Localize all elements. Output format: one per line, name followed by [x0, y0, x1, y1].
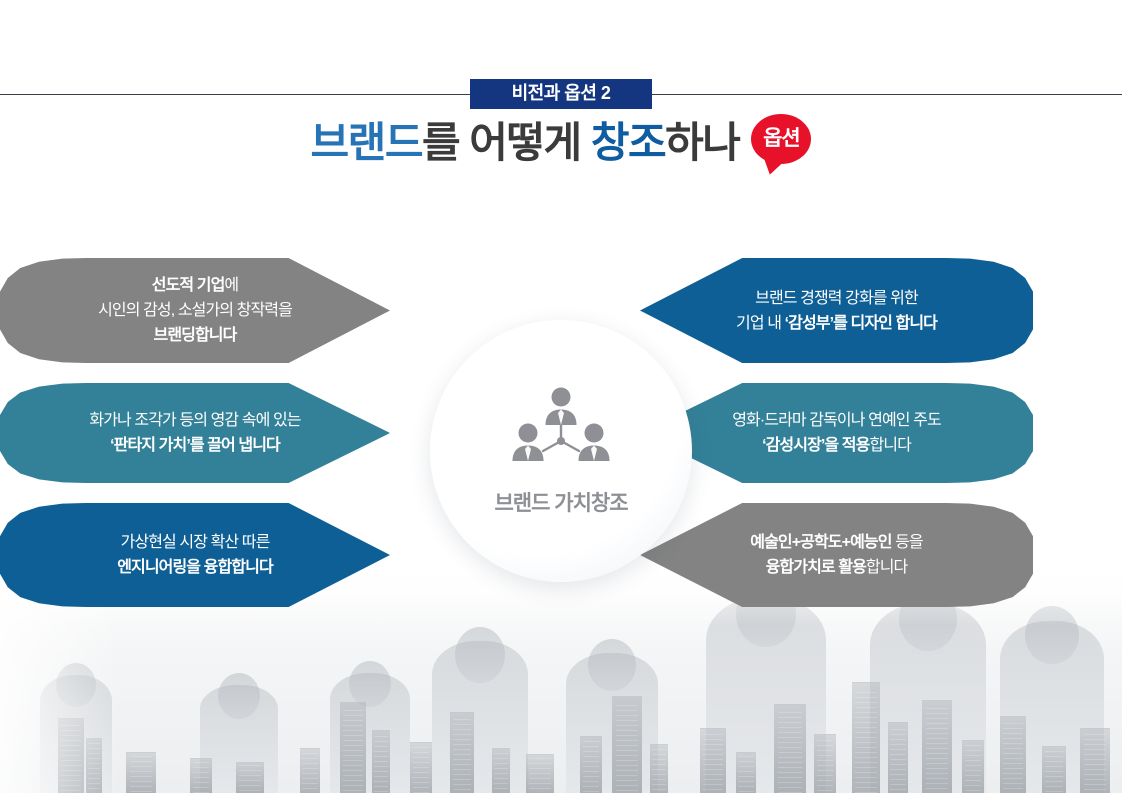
callout-middle-right-text: 영화·드라마 감독이나 연예인 주도 ‘감성시장’을 적용합니다 [732, 408, 941, 458]
callout-bottom-right-text: 예술인+공학도+예능인 등을 융합가치로 활용합니다 [750, 530, 922, 580]
callout-line: 기업 내 ‘감성부’를 디자인 합니다 [736, 311, 937, 336]
callout-top-right-line1: 브랜드 경쟁력 강화를 위한 [736, 286, 937, 311]
callout-line: 브랜딩합니다 [98, 323, 292, 348]
title-part-brand: 브랜드 [311, 119, 422, 166]
callout-middle-left[interactable]: 화가나 조각가 등의 영감 속에 있는 ‘판타지 가치’를 끌어 냅니다 [0, 383, 390, 483]
callout-line: ‘감성시장’을 적용합니다 [732, 433, 941, 458]
callout-bottom-left-line2-bold: 엔지니어링을 융합합니다 [117, 559, 273, 576]
callout-top-left-line3-bold: 브랜딩합니다 [154, 327, 237, 344]
option-speech-bubble-badge: 옵션 [751, 114, 811, 164]
center-circle-content: 브랜드 가치창조 [430, 320, 692, 582]
callout-middle-right-line1: 영화·드라마 감독이나 연예인 주도 [732, 408, 941, 433]
callout-bottom-right-line1-rest: 등을 [892, 534, 923, 551]
title-part-create: 창조 [591, 119, 665, 166]
skyline-building [1000, 716, 1026, 793]
callout-middle-left-text: 화가나 조각가 등의 영감 속에 있는 ‘판타지 가치’를 끌어 냅니다 [89, 408, 300, 458]
callout-top-left[interactable]: 선도적 기업에 시인의 감성, 소설가의 창작력을 브랜딩합니다 [0, 258, 390, 363]
skyline-building [526, 754, 554, 793]
callout-bottom-left[interactable]: 가상현실 시장 확산 따른 엔지니어링을 융합합니다 [0, 503, 390, 607]
callout-line: 엔지니어링을 융합합니다 [117, 555, 273, 580]
skyline-building [372, 730, 390, 793]
callout-top-left-line1-rest: 에 [224, 277, 238, 294]
callout-top-left-text: 선도적 기업에 시인의 감성, 소설가의 창작력을 브랜딩합니다 [98, 273, 292, 348]
callout-middle-right[interactable]: 영화·드라마 감독이나 연예인 주도 ‘감성시장’을 적용합니다 [640, 383, 1033, 483]
skyline-building [962, 740, 984, 793]
page-title: 브랜드를 어떻게 창조하나옵션 [0, 116, 1122, 170]
skyline-building [922, 700, 952, 793]
center-circle-label: 브랜드 가치창조 [494, 487, 627, 517]
callout-top-right-line2-bold: ‘감성부’를 디자인 합니다 [785, 315, 937, 332]
org-chart-people-icon [501, 385, 621, 481]
skyline-building [1042, 746, 1066, 793]
callout-line: 예술인+공학도+예능인 등을 [750, 530, 922, 555]
skyline-building [814, 734, 836, 793]
title-part-particle: 를 [422, 119, 469, 166]
skyline-building [612, 696, 642, 793]
callout-line: ‘판타지 가치’를 끌어 냅니다 [89, 433, 300, 458]
callout-line: 융합가치로 활용합니다 [750, 555, 922, 580]
skyline-building [340, 702, 366, 793]
callout-middle-right-line2-rest: 합니다 [869, 437, 910, 454]
callout-bottom-right-line1-bold: 예술인+공학도+예능인 [750, 534, 891, 551]
skyline-building [580, 736, 602, 793]
brand-value-diagram: 선도적 기업에 시인의 감성, 소설가의 창작력을 브랜딩합니다 화가나 조각가… [0, 250, 1122, 620]
callout-bottom-left-line1: 가상현실 시장 확산 따른 [117, 530, 273, 555]
callout-middle-left-line2-bold: ‘판타지 가치’를 끌어 냅니다 [110, 437, 280, 454]
skyline-building [410, 742, 432, 793]
skyline-building [190, 758, 212, 793]
callout-top-left-line1-bold: 선도적 기업 [152, 277, 225, 294]
title-part-suffix: 하나 [665, 119, 739, 166]
header-badge: 비전과 옵션 2 [470, 79, 652, 109]
callout-bottom-right[interactable]: 예술인+공학도+예능인 등을 융합가치로 활용합니다 [640, 503, 1033, 607]
callout-bottom-right-line2-bold: 융합가치로 활용 [766, 559, 866, 576]
slide-root: 비전과 옵션 2 브랜드를 어떻게 창조하나옵션 선도적 기업에 시인의 감성,… [0, 0, 1122, 793]
skyline-building [300, 748, 320, 793]
silhouette-person [432, 641, 528, 793]
callout-bottom-right-line2-rest: 합니다 [866, 559, 907, 576]
skyline-building [852, 682, 880, 793]
page-title-text: 브랜드를 어떻게 창조하나 [311, 116, 740, 170]
skyline-building [700, 728, 726, 793]
skyline-building [650, 744, 668, 793]
callout-middle-left-line1: 화가나 조각가 등의 영감 속에 있는 [89, 408, 300, 433]
callout-top-left-line2: 시인의 감성, 소설가의 창작력을 [98, 298, 292, 323]
skyline-building [236, 762, 264, 793]
callout-top-right-text: 브랜드 경쟁력 강화를 위한 기업 내 ‘감성부’를 디자인 합니다 [736, 286, 937, 336]
skyline-building [126, 752, 156, 793]
callout-top-right-line2-pre: 기업 내 [736, 315, 785, 332]
skyline-building [1080, 728, 1110, 793]
callout-top-right[interactable]: 브랜드 경쟁력 강화를 위한 기업 내 ‘감성부’를 디자인 합니다 [640, 258, 1033, 363]
skyline-building [774, 704, 806, 793]
callout-line: 선도적 기업에 [98, 273, 292, 298]
callout-bottom-left-text: 가상현실 시장 확산 따른 엔지니어링을 융합합니다 [117, 530, 273, 580]
skyline-building [450, 712, 474, 793]
skyline-building [888, 722, 908, 793]
skyline-building [492, 748, 510, 793]
callout-middle-right-line2-bold: ‘감성시장’을 적용 [762, 437, 869, 454]
title-part-how: 어떻게 [469, 119, 591, 166]
skyline-building [736, 752, 756, 793]
